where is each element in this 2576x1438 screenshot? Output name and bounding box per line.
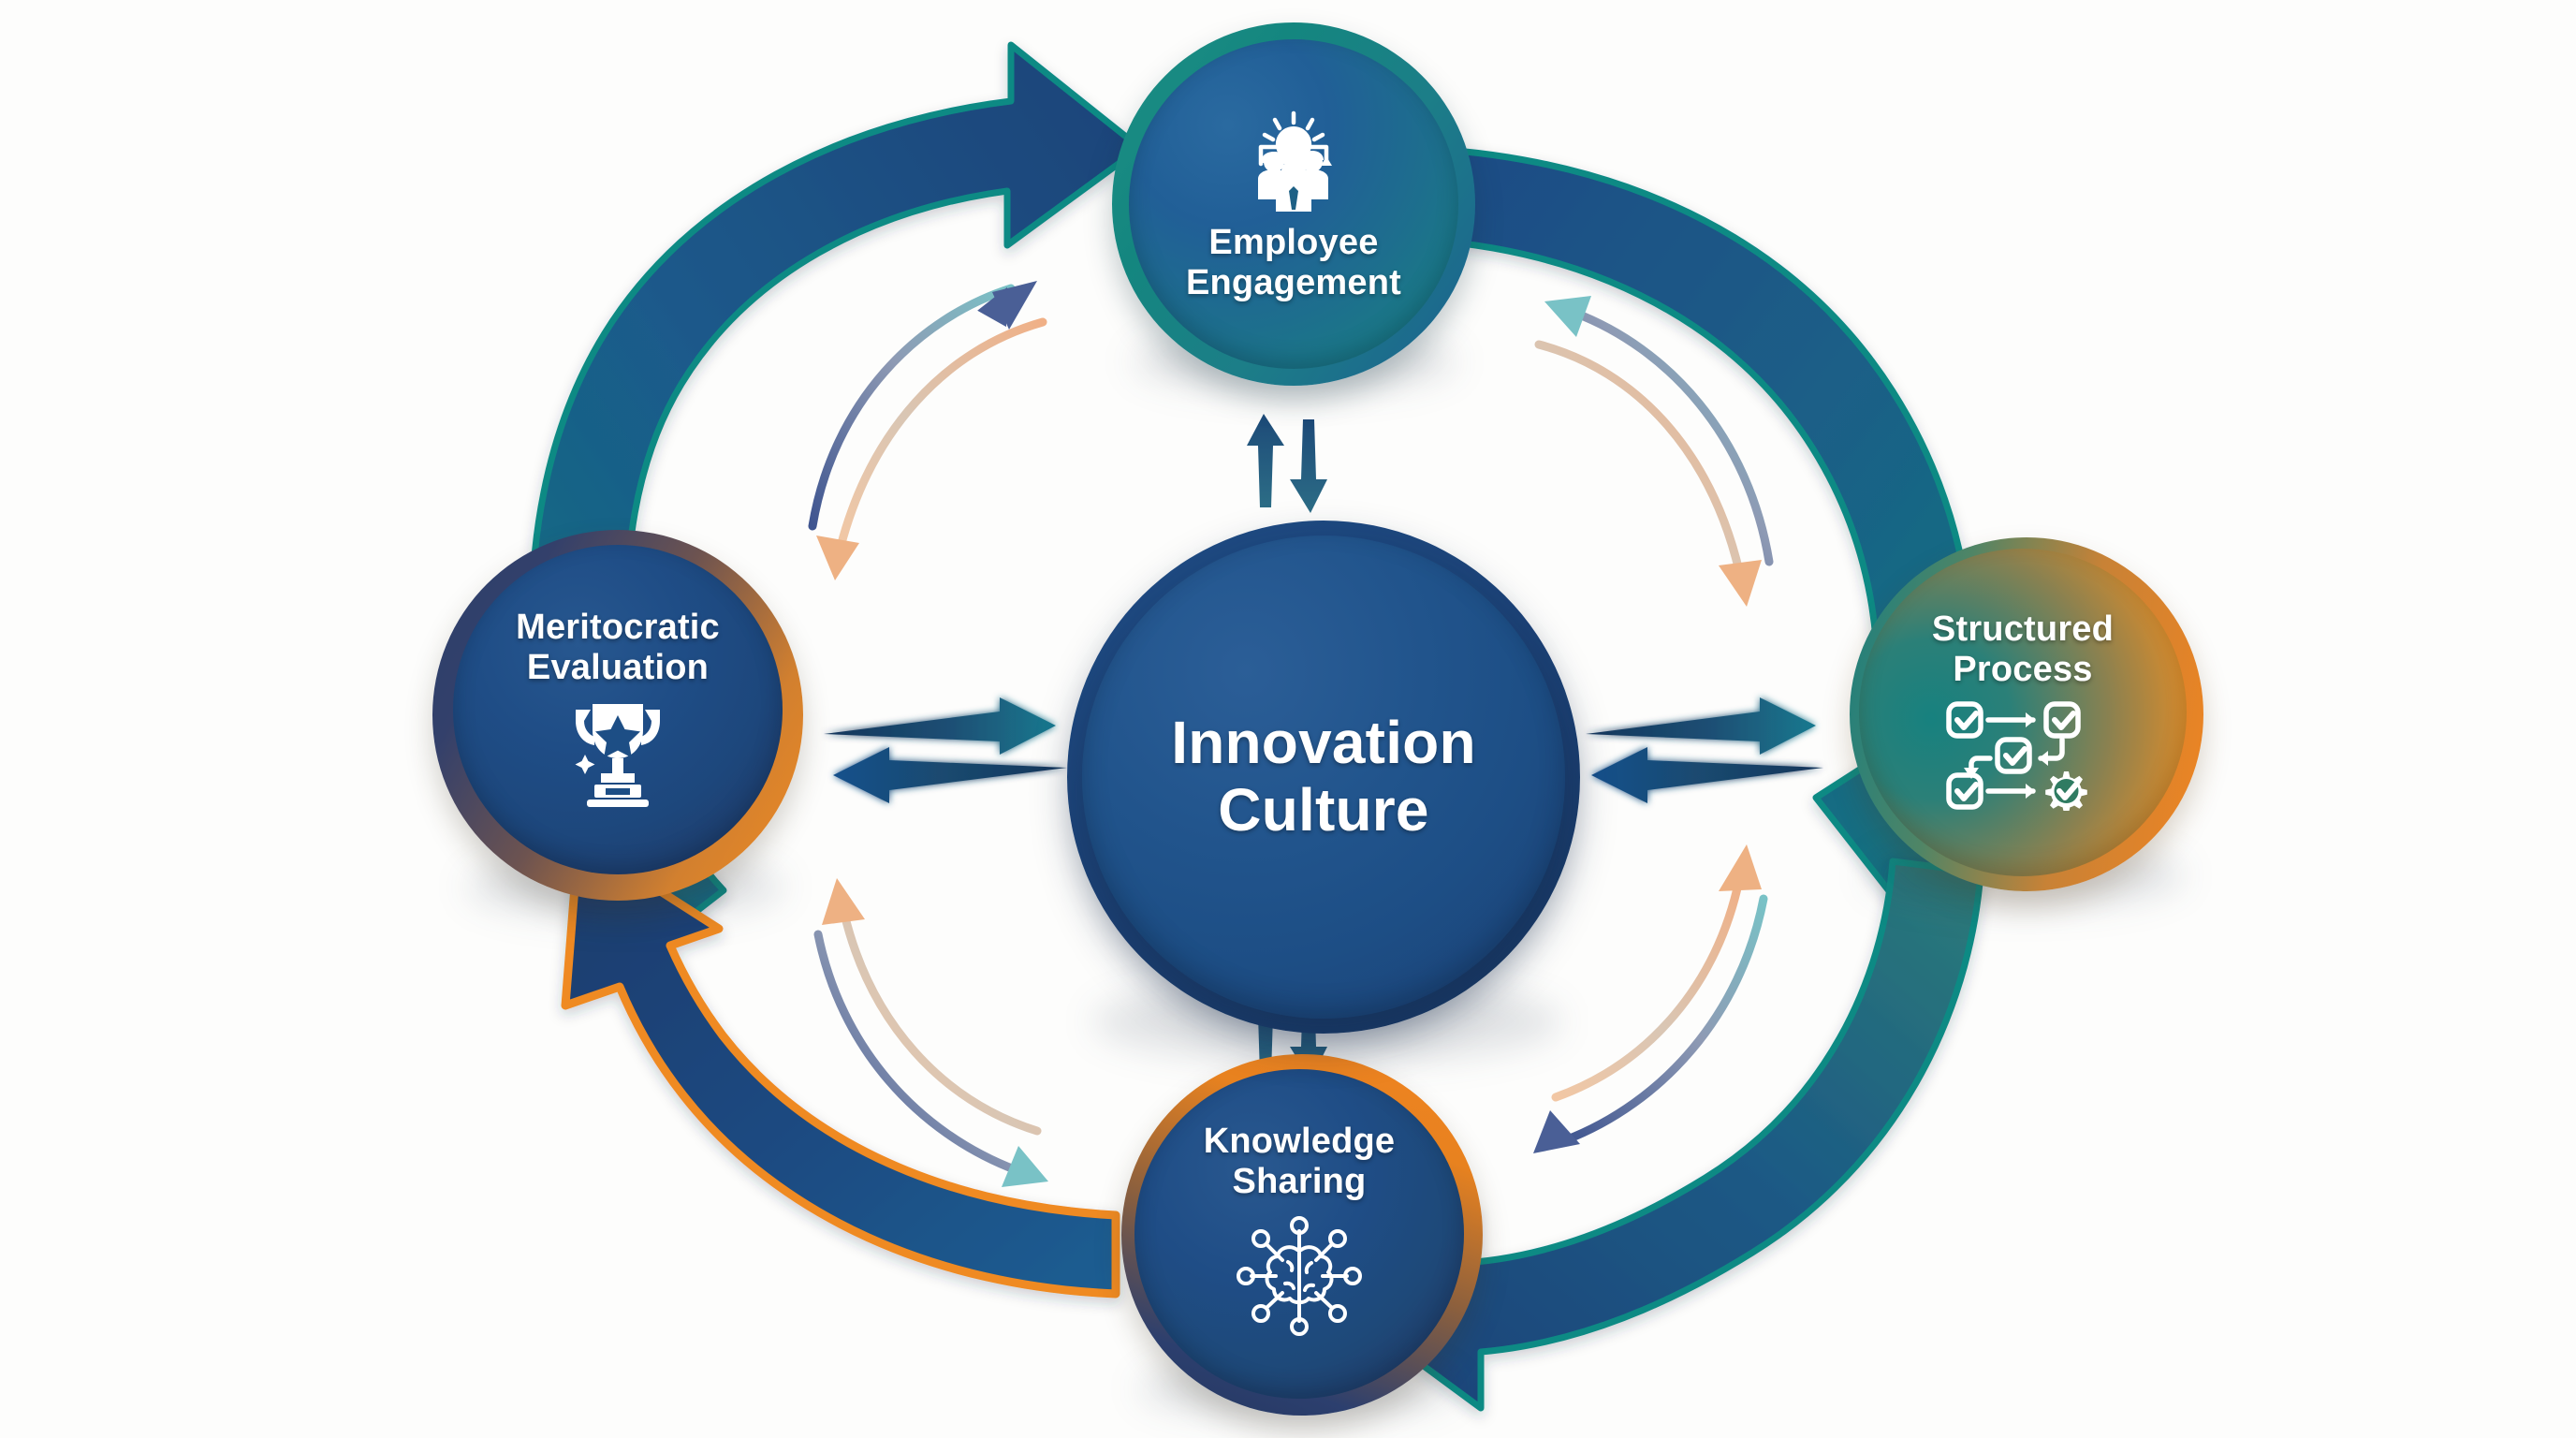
node-meritocratic-evaluation[interactable]: MeritocraticEvaluation	[453, 545, 783, 874]
team-lightbulb-icon	[1233, 106, 1354, 223]
node-label-meritocratic-evaluation: MeritocraticEvaluation	[508, 608, 727, 687]
node-label-structured-process: StructuredProcess	[1925, 609, 2121, 689]
node-knowledge-sharing[interactable]: KnowledgeSharing	[1134, 1069, 1464, 1399]
inner-arc-top-left	[812, 281, 1043, 580]
hub-spoke-left[interactable]	[824, 697, 1067, 803]
node-employee-engagement[interactable]: EmployeeEngagement	[1129, 39, 1458, 369]
trophy-star-icon	[557, 695, 679, 812]
brain-network-icon	[1229, 1211, 1369, 1346]
hub-spoke-right[interactable]	[1586, 697, 1823, 803]
node-innovation-culture[interactable]: InnovationCulture	[1082, 536, 1565, 1019]
node-label-knowledge-sharing: KnowledgeSharing	[1196, 1122, 1402, 1201]
node-structured-process[interactable]: StructuredProcess	[1859, 549, 2187, 876]
node-label-innovation-culture: InnovationCulture	[1164, 710, 1484, 844]
diagram-canvas: EmployeeEngagement StructuredProcess	[0, 0, 2576, 1438]
hub-spoke-top[interactable]	[1247, 414, 1327, 513]
process-flow-checklist-icon	[1943, 698, 2102, 815]
node-label-employee-engagement: EmployeeEngagement	[1178, 223, 1409, 302]
inner-arc-bottom-right	[1533, 844, 1764, 1153]
